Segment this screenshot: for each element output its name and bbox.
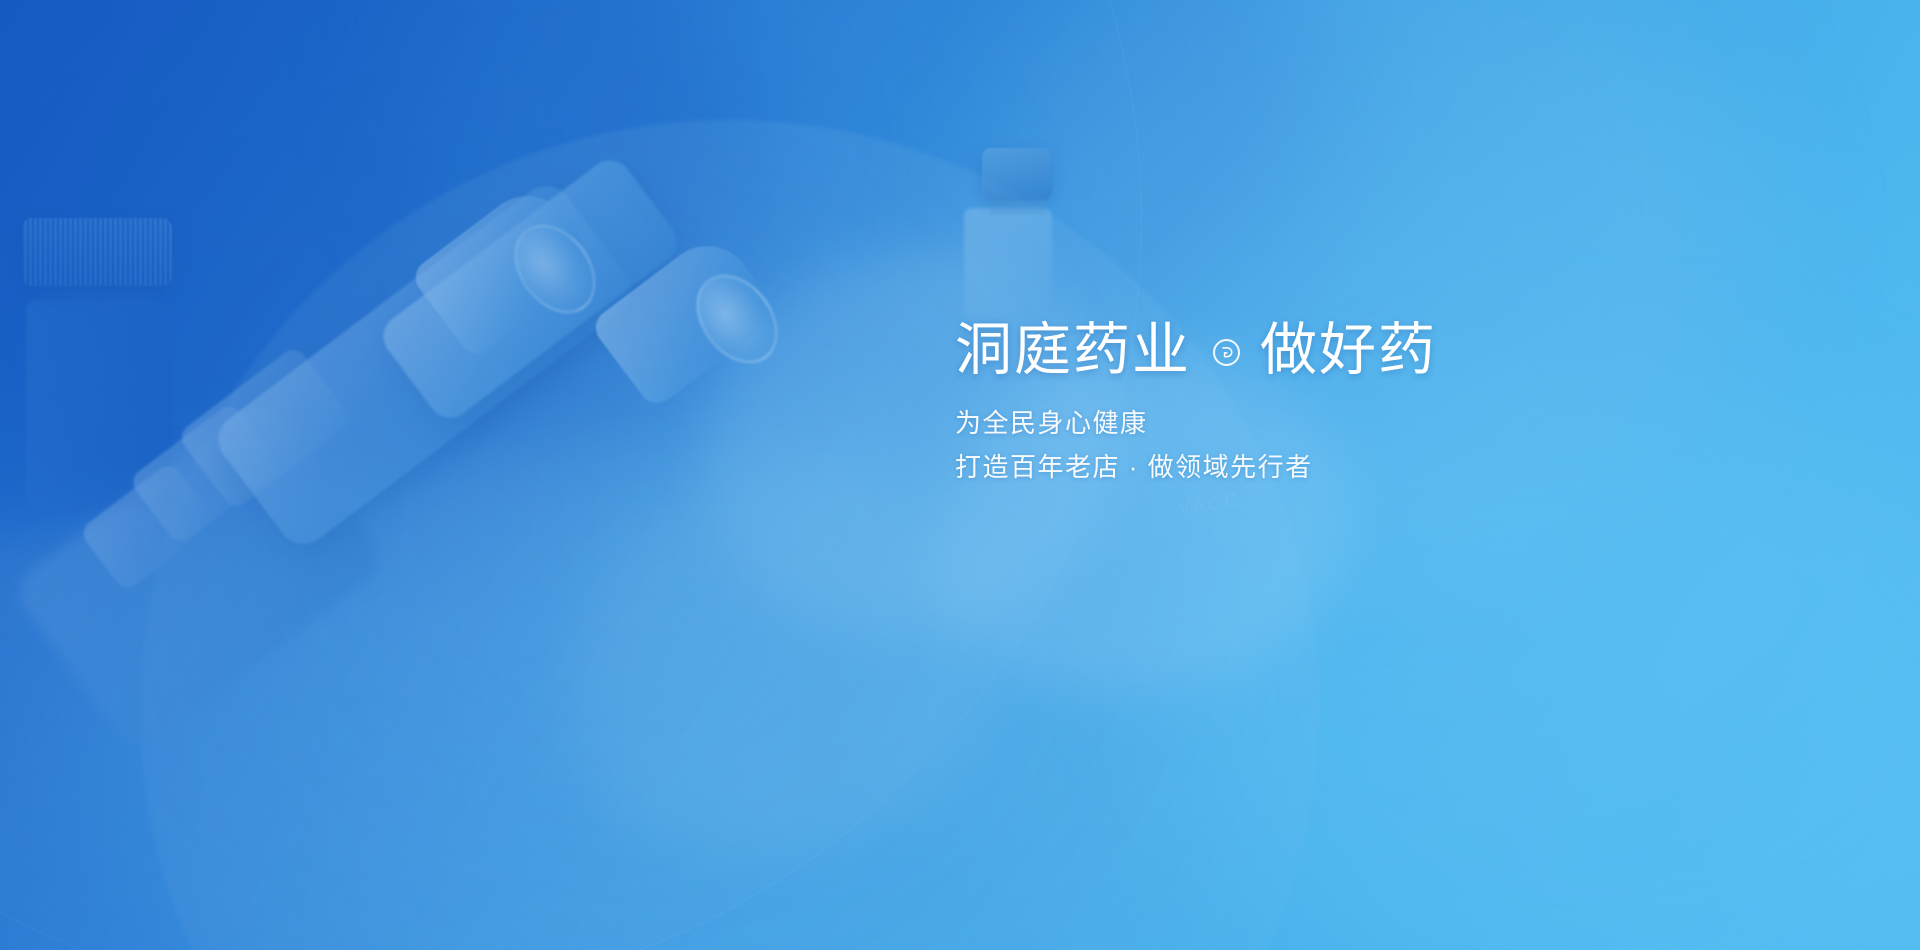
hero-subtitle-line-2: 打造百年老店 · 做领域先行者 [955, 445, 1815, 489]
hero-subtitle-line-1: 为全民身心健康 [955, 401, 1815, 445]
medicine-vial [950, 148, 1070, 324]
vial-body [964, 208, 1052, 320]
hero-copy: 洞庭药业 做好药 为全民身心健康 打造百年老店 · 做领域先行者 [955, 322, 1815, 489]
vial-cap [982, 148, 1052, 200]
brand-slogan: 做好药 [1260, 322, 1437, 379]
brand-name: 洞庭药业 [955, 322, 1191, 379]
hero-banner: VACC 洞庭药业 做好药 为全民身心健康 打造百年老店 · 做领域先行者 [0, 0, 1920, 950]
hero-headline: 洞庭药业 做好药 [955, 322, 1815, 379]
company-circle-emblem-icon [1213, 339, 1240, 366]
microscope [150, 170, 910, 710]
